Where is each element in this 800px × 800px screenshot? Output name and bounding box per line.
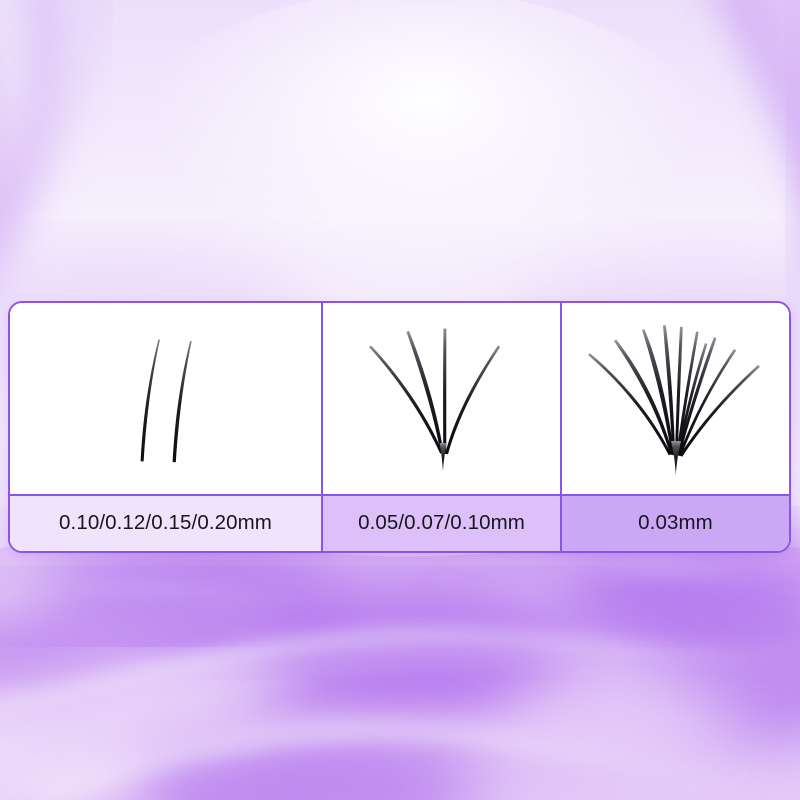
lash-specification-card: 0.10/0.12/0.15/0.20mm (8, 301, 791, 553)
panel-classic-lashes: 0.10/0.12/0.15/0.20mm (10, 303, 321, 551)
classic-lashes-label-row: 0.10/0.12/0.15/0.20mm (10, 494, 321, 551)
classic-lashes-illustration (10, 303, 321, 494)
panel-volume-fan-small: 0.05/0.07/0.10mm (321, 303, 560, 551)
lash-fan-strand (588, 325, 760, 475)
volume-fan-mega-label-row: 0.03mm (562, 494, 789, 551)
classic-lashes-label: 0.10/0.12/0.15/0.20mm (59, 513, 272, 534)
panel-volume-fan-mega: 0.03mm (560, 303, 789, 551)
volume-fan-mega-label: 0.03mm (638, 513, 713, 534)
volume-fan-small-label-row: 0.05/0.07/0.10mm (323, 494, 560, 551)
volume-fan-small-label: 0.05/0.07/0.10mm (358, 513, 525, 534)
volume-fan-mega-illustration (562, 303, 789, 494)
lash-strand (141, 340, 192, 463)
lash-fan-strand (369, 329, 500, 472)
volume-fan-small-illustration (323, 303, 560, 494)
